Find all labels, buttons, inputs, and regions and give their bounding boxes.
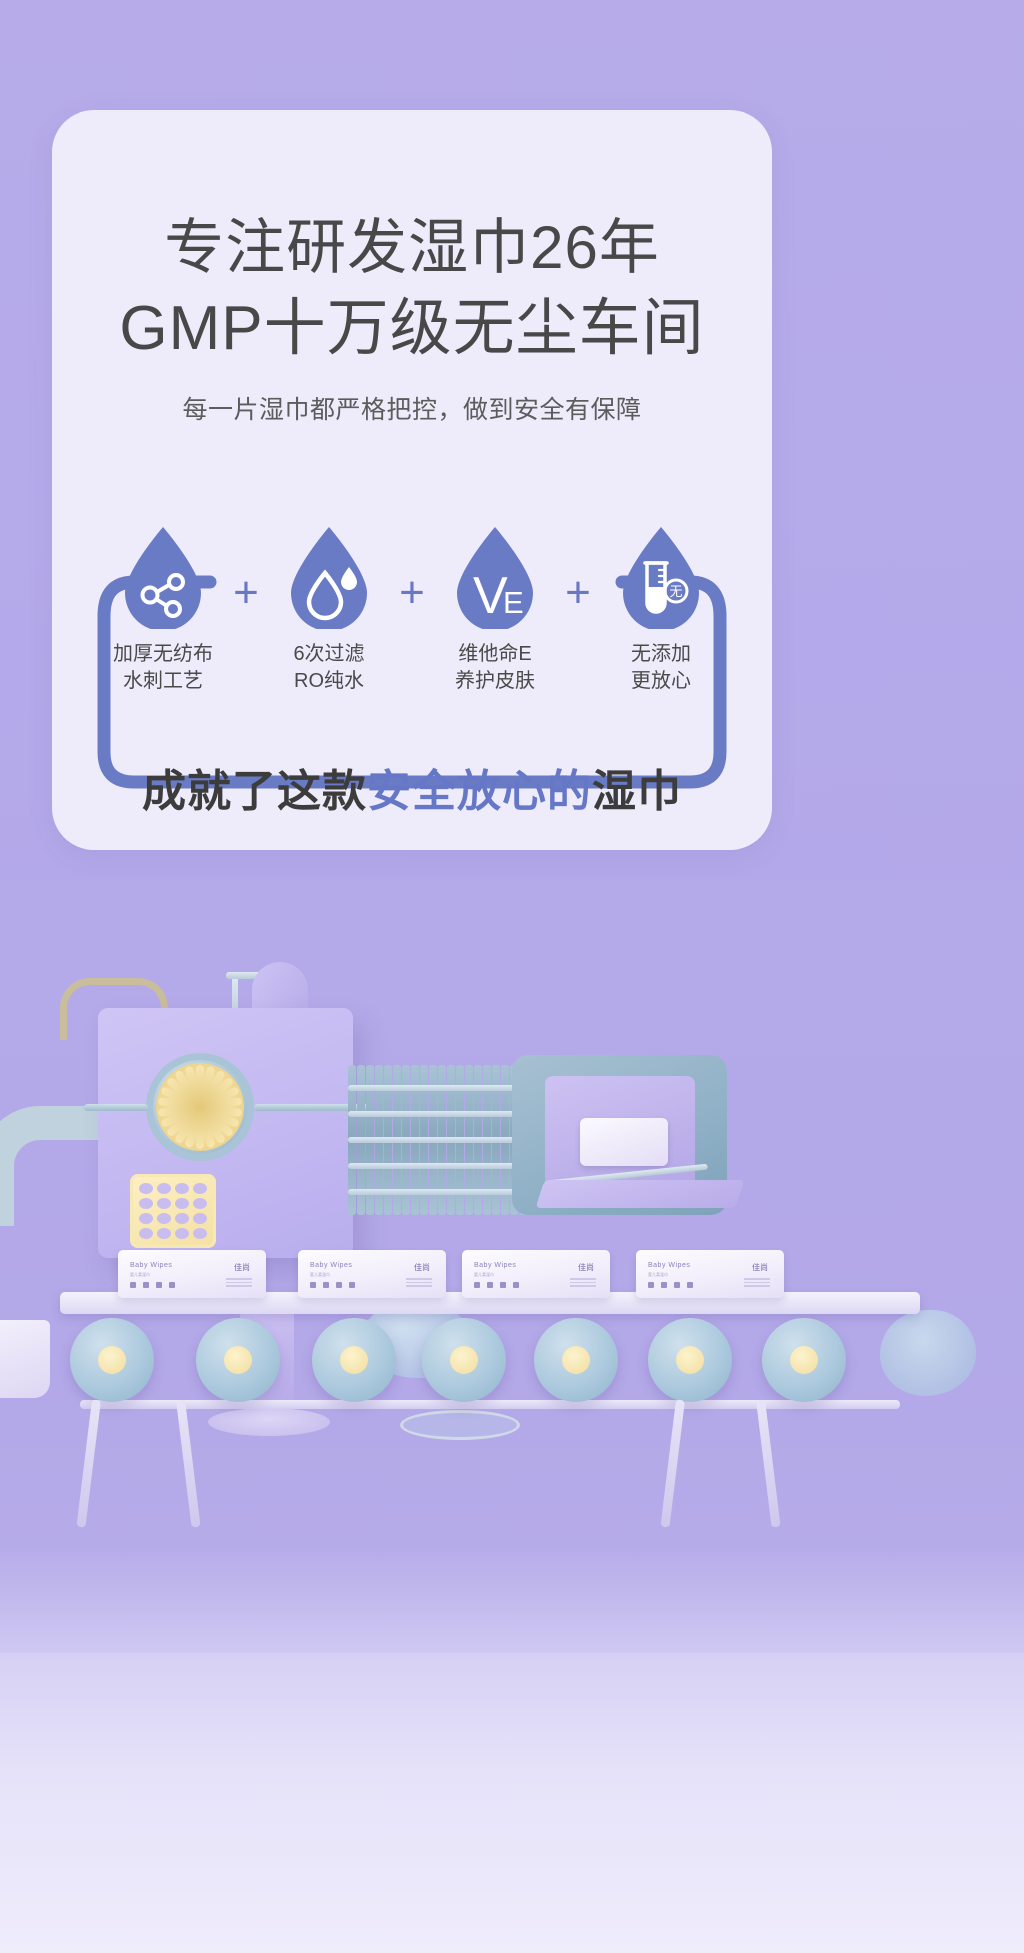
- machine-rod-left: [84, 1104, 148, 1111]
- pack-feature-icon: [661, 1282, 667, 1288]
- wipe-pack: Baby Wipes 婴儿柔湿巾 佳尚: [462, 1250, 610, 1298]
- pack-text-lines: [226, 1278, 252, 1289]
- water-drop-icon: [287, 525, 371, 629]
- tagline-prefix: 成就了这款: [142, 767, 367, 816]
- panel-dot: [193, 1198, 207, 1209]
- pack-icon-row: [474, 1282, 519, 1288]
- pack-brand: Baby Wipes: [130, 1262, 172, 1269]
- panel-dot: [139, 1228, 153, 1239]
- pack-text-lines: [570, 1278, 596, 1289]
- output-wipe-pack: [580, 1118, 668, 1166]
- tagline-highlight: 安全放心的: [367, 767, 592, 816]
- page-title-line-2: GMP十万级无尘车间: [52, 288, 772, 370]
- bellows-tube: [348, 1085, 530, 1091]
- panel-dot: [175, 1198, 189, 1209]
- conveyor-leg-bar: [80, 1400, 900, 1409]
- production-line-illustration: Baby Wipes 婴儿柔湿巾 佳尚 Baby Wipes 婴儿柔湿巾 佳尚 …: [0, 880, 1024, 1953]
- feature-label-nonwoven: 加厚无纺布 水刺工艺: [113, 641, 213, 695]
- wipe-pack: Baby Wipes 婴儿柔湿巾 佳尚: [636, 1250, 784, 1298]
- bellows-duct: [348, 1065, 520, 1215]
- wipe-pack: Baby Wipes 婴儿柔湿巾 佳尚: [298, 1250, 446, 1298]
- pack-icon-row: [310, 1282, 355, 1288]
- bellows-tube: [348, 1111, 530, 1117]
- panel-dot: [193, 1228, 207, 1239]
- pack-feature-icon: [674, 1282, 680, 1288]
- page-title-line-1: 专注研发湿巾26年: [52, 208, 772, 288]
- conveyor-roller: [196, 1318, 280, 1402]
- pack-subtitle: 婴儿柔湿巾: [310, 1272, 330, 1278]
- pack-brand: Baby Wipes: [648, 1262, 690, 1269]
- pack-logo: 佳尚: [414, 1262, 430, 1273]
- pack-icon-row: [130, 1282, 175, 1288]
- no-additive-badge-text: 无: [669, 584, 682, 599]
- conveyor-roller: [762, 1318, 846, 1402]
- panel-dot: [175, 1213, 189, 1224]
- pack-text-lines: [406, 1278, 432, 1289]
- pack-logo: 佳尚: [578, 1262, 594, 1273]
- pack-feature-icon: [474, 1282, 480, 1288]
- molecule-icon: [121, 525, 205, 629]
- feature-item-nonwoven[interactable]: 加厚无纺布 水刺工艺: [104, 525, 222, 695]
- feature-label-line-1: 维他命E: [455, 641, 535, 668]
- panel-dot: [175, 1228, 189, 1239]
- no-additive-droplet: 无: [619, 525, 703, 629]
- pack-feature-icon: [487, 1282, 493, 1288]
- wipe-pack: Baby Wipes 婴儿柔湿巾 佳尚: [118, 1250, 266, 1298]
- scene-floor: [0, 1653, 1024, 1953]
- feature-label-line-2: 养护皮肤: [455, 668, 535, 695]
- panel-dot: [175, 1183, 189, 1194]
- pack-icon-row: [648, 1282, 693, 1288]
- bellows-tube: [348, 1189, 530, 1195]
- vitamin-letter-e: E: [503, 585, 524, 620]
- conveyor-leg: [756, 1399, 781, 1527]
- feature-label-line-2: RO纯水: [293, 668, 364, 695]
- feature-label-line-1: 6次过滤: [293, 641, 364, 668]
- test-tube-no-additive-icon: 无: [619, 525, 703, 629]
- panel-dot: [193, 1213, 207, 1224]
- feature-droplet-row: 加厚无纺布 水刺工艺 + 6次过滤 RO纯水 +: [104, 525, 720, 725]
- info-card: 专注研发湿巾26年 GMP十万级无尘车间 每一片湿巾都严格把控，做到安全有保障: [52, 110, 772, 850]
- pack-subtitle: 婴儿柔湿巾: [130, 1272, 150, 1278]
- page-subtitle: 每一片湿巾都严格把控，做到安全有保障: [52, 390, 772, 426]
- panel-dot: [139, 1213, 153, 1224]
- vitamin-e-droplet: V E: [453, 525, 537, 629]
- conveyor-roller: [312, 1318, 396, 1402]
- pack-feature-icon: [143, 1282, 149, 1288]
- conveyor-roller: [648, 1318, 732, 1402]
- conveyor-roller: [70, 1318, 154, 1402]
- feature-item-no-additive[interactable]: 无 无添加 更放心: [602, 525, 720, 695]
- bellows-tube: [348, 1137, 530, 1143]
- conveyor-roller: [534, 1318, 618, 1402]
- feature-item-vitamin-e[interactable]: V E 维他命E 养护皮肤: [436, 525, 554, 695]
- pack-subtitle: 婴儿柔湿巾: [474, 1272, 494, 1278]
- panel-dot: [157, 1198, 171, 1209]
- bellows-tube: [348, 1163, 530, 1169]
- pack-feature-icon: [323, 1282, 329, 1288]
- feature-label-line-1: 无添加: [631, 641, 691, 668]
- feature-item-filtration[interactable]: 6次过滤 RO纯水: [270, 525, 388, 695]
- feature-label-line-2: 水刺工艺: [113, 668, 213, 695]
- pack-feature-icon: [648, 1282, 654, 1288]
- fan-hub: [156, 1063, 244, 1151]
- pack-logo: 佳尚: [752, 1262, 768, 1273]
- machine-center-base: [208, 1408, 330, 1436]
- pack-feature-icon: [310, 1282, 316, 1288]
- feature-label-line-2: 更放心: [631, 668, 691, 695]
- plus-separator-1: +: [231, 541, 261, 645]
- plus-separator-2: +: [397, 541, 427, 645]
- output-shelf: [535, 1180, 744, 1208]
- pack-feature-icon: [130, 1282, 136, 1288]
- vitamin-e-icon: V E: [453, 525, 537, 629]
- pack-brand: Baby Wipes: [310, 1262, 352, 1269]
- conveyor-leg: [660, 1399, 685, 1527]
- feature-label-no-additive: 无添加 更放心: [631, 641, 691, 695]
- pack-feature-icon: [169, 1282, 175, 1288]
- tagline-suffix: 湿巾: [592, 767, 682, 816]
- conveyor-roller: [422, 1318, 506, 1402]
- panel-dot: [157, 1228, 171, 1239]
- pack-feature-icon: [336, 1282, 342, 1288]
- water-droplet: [287, 525, 371, 629]
- pack-feature-icon: [349, 1282, 355, 1288]
- intake-pipe: [0, 1106, 98, 1226]
- pack-feature-icon: [156, 1282, 162, 1288]
- pack-feature-icon: [513, 1282, 519, 1288]
- pack-subtitle: 婴儿柔湿巾: [648, 1272, 668, 1278]
- plus-separator-3: +: [563, 541, 593, 645]
- conveyor-leg: [176, 1399, 201, 1527]
- panel-dot: [139, 1198, 153, 1209]
- pack-brand: Baby Wipes: [474, 1262, 516, 1269]
- panel-dot: [157, 1213, 171, 1224]
- conveyor-leg: [76, 1399, 101, 1527]
- dot-panel: [130, 1174, 216, 1248]
- collection-bucket: [0, 1320, 50, 1398]
- pack-text-lines: [744, 1278, 770, 1289]
- molecule-droplet: [121, 525, 205, 629]
- tagline: 成就了这款安全放心的湿巾: [52, 755, 772, 819]
- machine-body: [98, 1008, 353, 1258]
- feature-label-vitamin-e: 维他命E 养护皮肤: [455, 641, 535, 695]
- pack-feature-icon: [500, 1282, 506, 1288]
- water-splash-right: [880, 1310, 976, 1396]
- panel-dot: [139, 1183, 153, 1194]
- panel-dot: [193, 1183, 207, 1194]
- panel-dot: [157, 1183, 171, 1194]
- pack-logo: 佳尚: [234, 1262, 250, 1273]
- glass-disc: [400, 1410, 520, 1440]
- feature-label-filtration: 6次过滤 RO纯水: [293, 641, 364, 695]
- feature-label-line-1: 加厚无纺布: [113, 641, 213, 668]
- pack-feature-icon: [687, 1282, 693, 1288]
